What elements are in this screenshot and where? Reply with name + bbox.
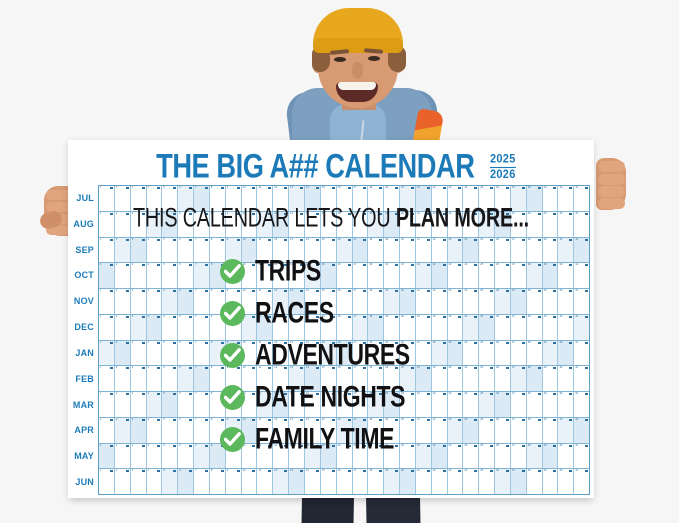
checklist-label: DATE NIGHTS: [255, 380, 405, 415]
nose: [352, 62, 363, 79]
check-circle-icon: [220, 259, 245, 284]
checklist-label: FAMILY TIME: [255, 422, 394, 457]
checklist-item-trips: TRIPS: [220, 252, 520, 290]
check-circle-icon: [220, 343, 245, 368]
teeth: [338, 82, 376, 90]
mouth: [336, 82, 378, 102]
checklist-label: TRIPS: [255, 254, 321, 289]
check-circle-icon: [220, 385, 245, 410]
feature-checklist: TRIPSRACESADVENTURESDATE NIGHTSFAMILY TI…: [220, 252, 520, 458]
right-hand: [596, 158, 626, 210]
checklist-item-adventures: ADVENTURES: [220, 336, 520, 374]
check-circle-icon: [220, 427, 245, 452]
right-eye: [368, 56, 380, 61]
checklist-item-date-nights: DATE NIGHTS: [220, 378, 520, 416]
checklist-label: ADVENTURES: [255, 338, 410, 373]
wall-calendar-poster: THE BIG A## CALENDAR 2025 2026 JULAUGSEP…: [68, 140, 594, 498]
beanie-brim: [313, 38, 403, 53]
checklist-item-family-time: FAMILY TIME: [220, 420, 520, 458]
check-circle-icon: [220, 301, 245, 326]
left-eye: [334, 57, 346, 62]
checklist-item-races: RACES: [220, 294, 520, 332]
tagline-light: THIS CALENDAR LETS YOU: [133, 202, 396, 233]
marketing-overlay: THIS CALENDAR LETS YOU PLAN MORE... TRIP…: [68, 140, 594, 498]
tagline-bold: PLAN MORE...: [396, 202, 529, 233]
product-photo-scene: THE BIG A## CALENDAR 2025 2026 JULAUGSEP…: [0, 0, 679, 523]
tagline: THIS CALENDAR LETS YOU PLAN MORE...: [94, 202, 567, 234]
checklist-label: RACES: [255, 296, 334, 331]
